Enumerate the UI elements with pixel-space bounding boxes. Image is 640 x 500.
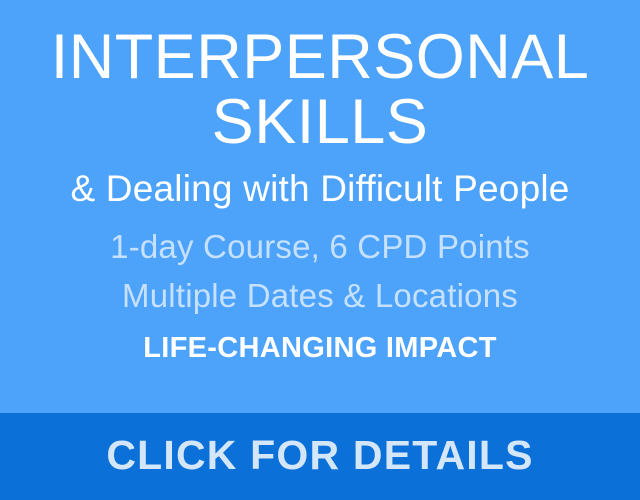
impact-statement: LIFE-CHANGING IMPACT — [12, 333, 628, 365]
cta-label: CLICK FOR DETAILS — [106, 435, 533, 476]
course-promo-banner[interactable]: INTERPERSONAL SKILLS & Dealing with Diff… — [0, 0, 640, 500]
detail-course-duration-cpd: 1-day Course, 6 CPD Points — [12, 229, 628, 266]
headline-line-1: INTERPERSONAL — [12, 27, 628, 88]
banner-subtitle: & Dealing with Difficult People — [12, 169, 628, 209]
banner-content: INTERPERSONAL SKILLS & Dealing with Diff… — [0, 0, 640, 413]
headline-line-2: SKILLS — [12, 92, 628, 153]
cta-bar[interactable]: CLICK FOR DETAILS — [0, 413, 640, 500]
banner-headline: INTERPERSONAL SKILLS — [12, 0, 628, 153]
detail-dates-locations: Multiple Dates & Locations — [12, 278, 628, 315]
